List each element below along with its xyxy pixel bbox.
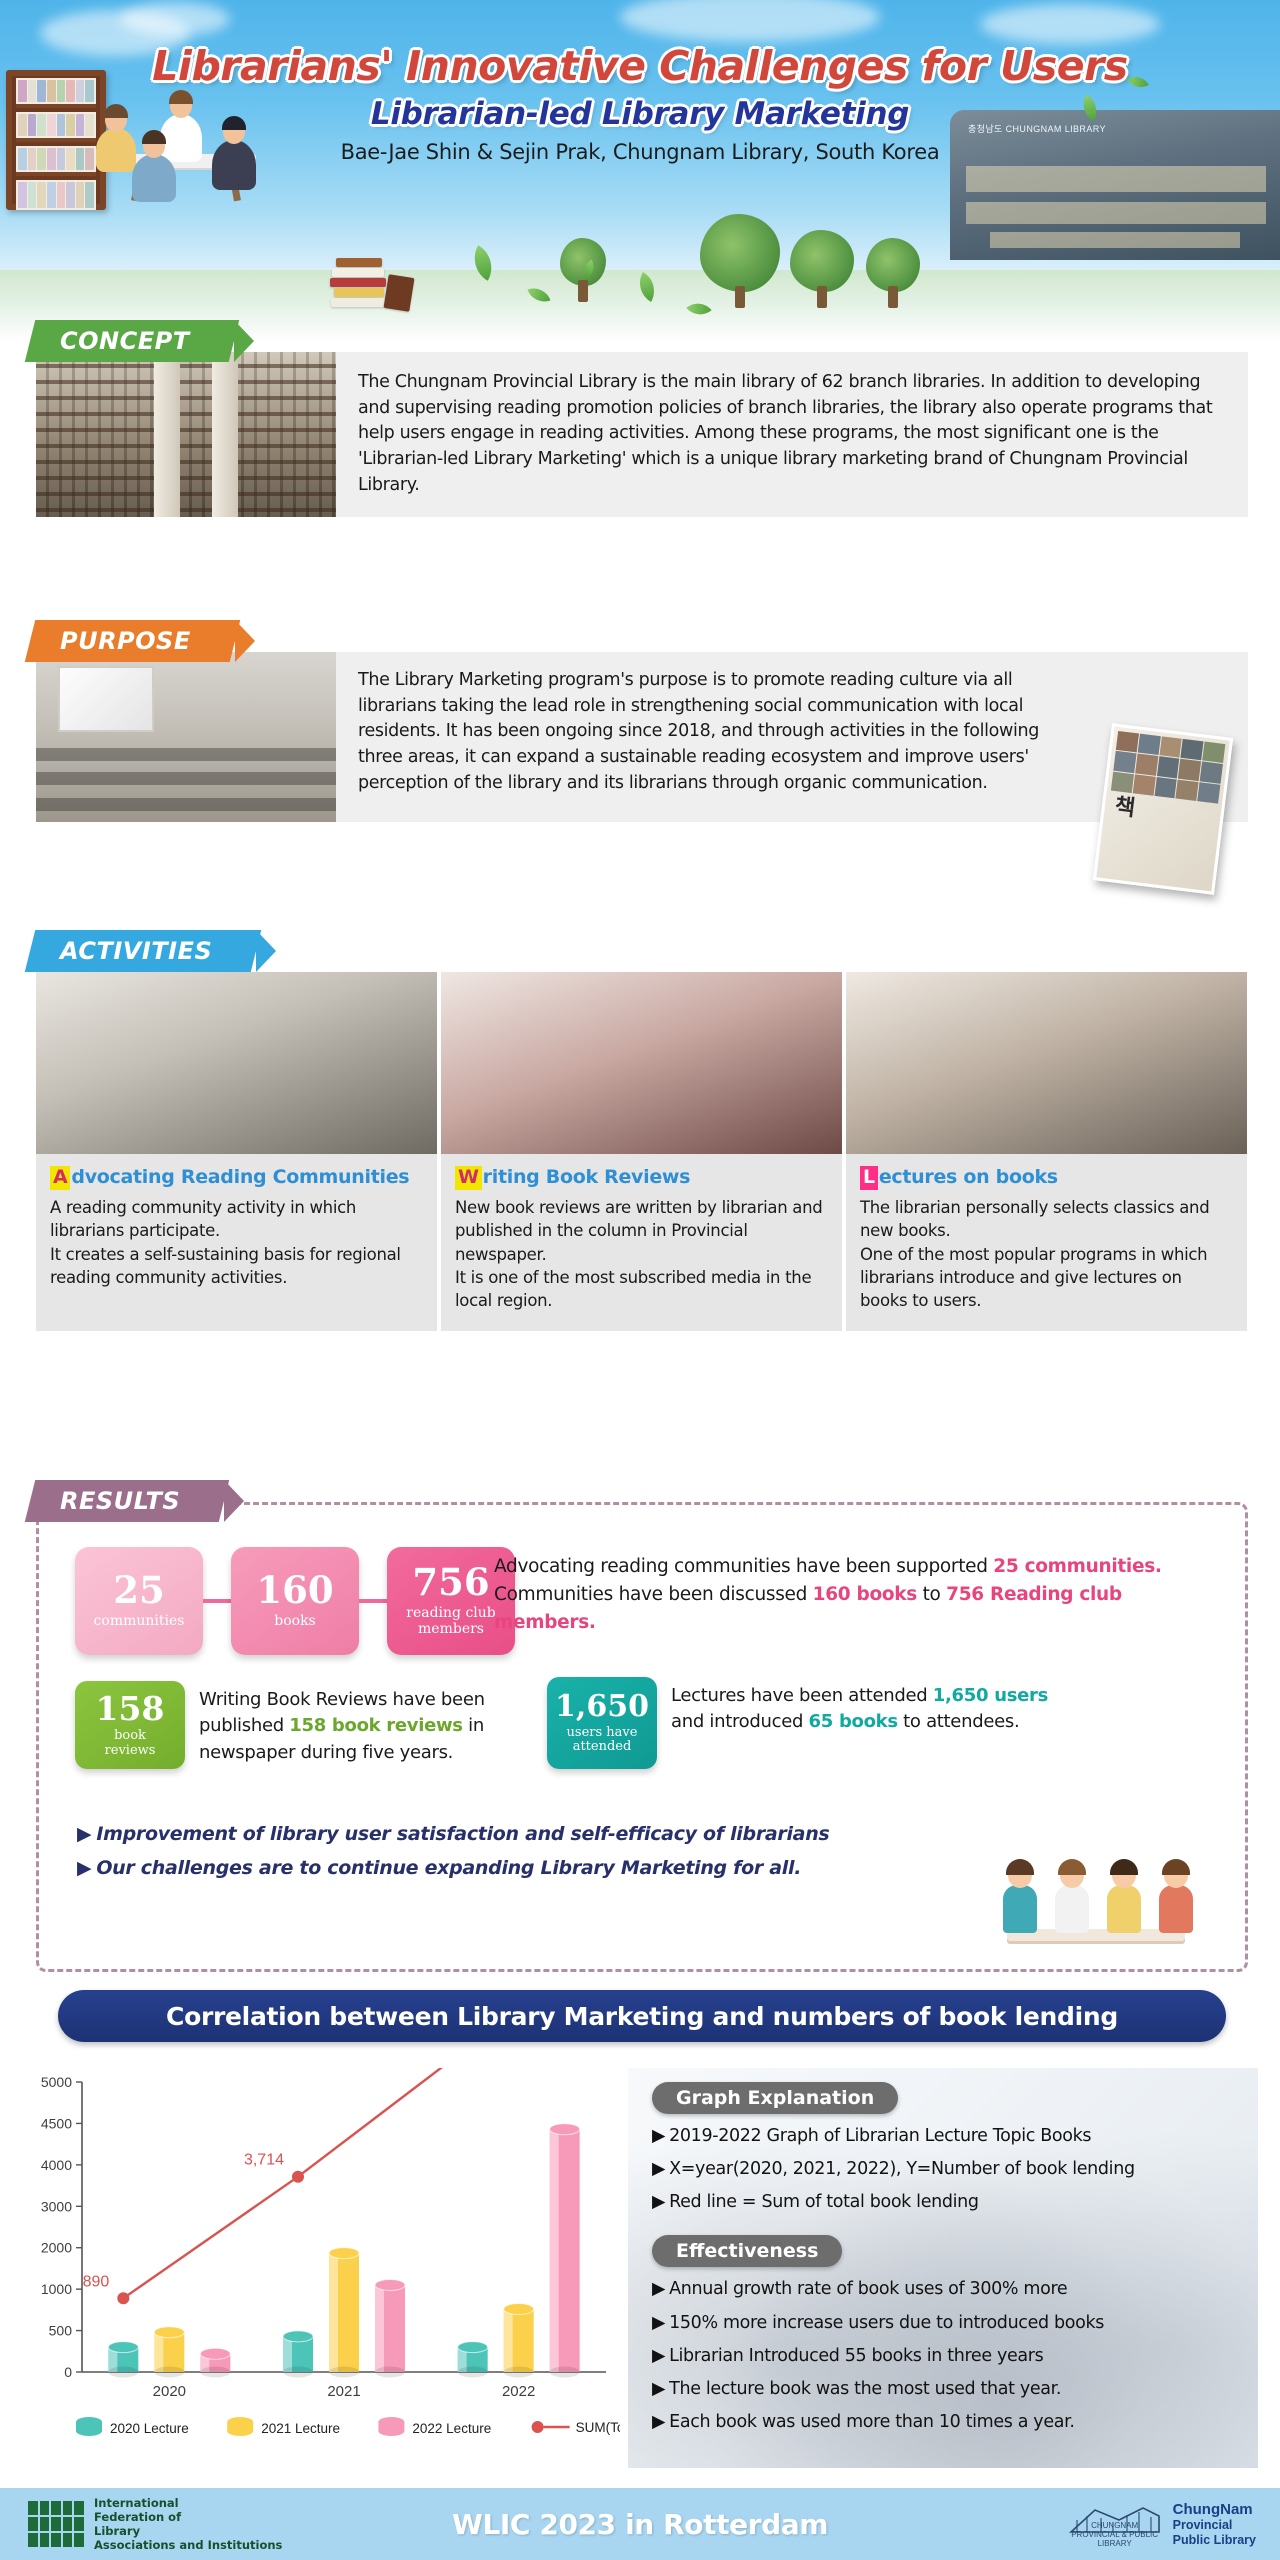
activity-card: Advocating Reading Communities A reading… <box>36 972 437 1331</box>
tree-decor <box>700 214 780 292</box>
authors-line: Bae-Jae Shin & Sejin Prak, Chungnam Libr… <box>180 140 1100 164</box>
svg-text:2022 Lecture: 2022 Lecture <box>412 2421 491 2436</box>
stat-label: reading club members <box>406 1606 496 1637</box>
svg-text:2021: 2021 <box>327 2383 360 2400</box>
triangle-right-icon: ▶ <box>652 2192 665 2212</box>
triangle-right-icon: ▶ <box>77 1857 91 1879</box>
activity-initial-letter: A <box>50 1166 70 1190</box>
svg-text:500: 500 <box>49 2323 73 2339</box>
connector-line <box>203 1599 231 1603</box>
svg-text:2021 Lecture: 2021 Lecture <box>261 2421 340 2436</box>
graph-explanation-item: ▶X=year(2020, 2021, 2022), Y=Number of b… <box>652 2157 1258 2181</box>
stat-label: books <box>274 1614 316 1630</box>
concept-body: The Chungnam Provincial Library is the m… <box>36 352 1248 517</box>
effectiveness-item: ▶The lecture book was the most used that… <box>652 2377 1258 2401</box>
lending-chart: 05001000200030004000450050008903,7145,65… <box>20 2068 620 2468</box>
rtc-hl1: 1,650 users <box>933 1685 1048 1706</box>
stat-value: 756 <box>412 1564 489 1601</box>
connector-line <box>359 1599 387 1603</box>
triangle-right-icon: ▶ <box>652 2346 665 2366</box>
rt-b-mid: to <box>917 1584 946 1605</box>
tree-decor <box>790 230 854 292</box>
rtb-hl: 158 book reviews <box>289 1715 462 1736</box>
item-text: 2019-2022 Graph of Librarian Lecture Top… <box>669 2126 1091 2146</box>
item-text: Each book was used more than 10 times a … <box>669 2412 1074 2432</box>
page-title: Librarians' Innovative Challenges for Us… <box>0 42 1280 90</box>
activity-photo-reading-community <box>36 972 437 1154</box>
chungnam-name: ChungNam Provincial Public Library <box>1173 2501 1256 2547</box>
poster-header: 충청남도 CHUNGNAM LIBRARY <box>0 0 1280 340</box>
stat-label: users have attended <box>567 1726 638 1755</box>
results-bullet: ▶Improvement of library user satisfactio… <box>77 1823 829 1845</box>
purpose-tag: PURPOSE <box>30 620 235 662</box>
purpose-body: The Library Marketing program's purpose … <box>36 652 1248 822</box>
svg-text:4000: 4000 <box>41 2157 72 2173</box>
activity-description: A reading community activity in which li… <box>50 1196 423 1290</box>
graph-explanation-block: Graph Explanation ▶2019-2022 Graph of Li… <box>628 2068 1258 2214</box>
activities-tag-label: ACTIVITIES <box>60 930 212 972</box>
item-text: The lecture book was the most used that … <box>669 2379 1061 2399</box>
activity-card: Lectures on books The librarian personal… <box>846 972 1247 1331</box>
svg-text:SUM(Total): SUM(Total) <box>576 2420 620 2435</box>
activity-description: The librarian personally selects classic… <box>860 1196 1233 1313</box>
results-bullet: ▶Our challenges are to continue expandin… <box>77 1857 829 1879</box>
activity-photo-lectures <box>846 972 1247 1154</box>
triangle-right-icon: ▶ <box>77 1823 91 1845</box>
stat-card-book-reviews: 158 book reviews <box>75 1681 185 1769</box>
effectiveness-item: ▶150% more increase users due to introdu… <box>652 2311 1258 2335</box>
rtc-post: to attendees. <box>898 1711 1020 1732</box>
triangle-right-icon: ▶ <box>652 2412 665 2432</box>
svg-text:4500: 4500 <box>41 2115 72 2131</box>
results-stat-row: 25 communities 160 books 756 reading clu… <box>75 1547 515 1655</box>
rt-b-pre: Communities have been discussed <box>494 1584 813 1605</box>
chungnam-building-icon: CHUNGNAM PROVINCIAL & PUBLIC LIBRARY <box>1067 2502 1163 2546</box>
svg-text:1000: 1000 <box>41 2281 72 2297</box>
svg-text:2020: 2020 <box>153 2383 186 2400</box>
stat-card-users-attended: 1,650 users have attended <box>547 1677 657 1769</box>
activity-heading: ectures on books <box>879 1166 1058 1188</box>
poster-root: 충청남도 CHUNGNAM LIBRARY <box>0 0 1280 2560</box>
rt-a-pre: Advocating reading communities have been… <box>494 1556 993 1577</box>
effectiveness-item: ▶Librarian Introduced 55 books in three … <box>652 2344 1258 2368</box>
lecture-room-photo <box>36 652 336 822</box>
item-text: 150% more increase users due to introduc… <box>669 2313 1104 2333</box>
chungnam-logo-block: CHUNGNAM PROVINCIAL & PUBLIC LIBRARY Chu… <box>1067 2501 1256 2547</box>
item-text: Librarian Introduced 55 books in three y… <box>669 2346 1043 2366</box>
effectiveness-block: Effectiveness ▶Annual growth rate of boo… <box>628 2223 1258 2434</box>
book-stack-decor <box>330 250 420 310</box>
stat-label: communities <box>94 1614 185 1630</box>
activity-initial-letter: W <box>455 1166 482 1190</box>
poster-footer: International Federation of Library Asso… <box>0 2488 1280 2560</box>
chungnam-line3: Public Library <box>1173 2533 1256 2547</box>
triangle-right-icon: ▶ <box>652 2126 665 2146</box>
activity-photo-book-reviews <box>441 972 842 1154</box>
effectiveness-title: Effectiveness <box>652 2235 842 2267</box>
results-bullet-text: Our challenges are to continue expanding… <box>96 1857 801 1879</box>
purpose-tag-label: PURPOSE <box>60 620 191 662</box>
item-text: Red line = Sum of total book lending <box>669 2192 979 2212</box>
correlation-title-bar: Correlation between Library Marketing an… <box>58 1990 1226 2042</box>
svg-text:3000: 3000 <box>41 2198 72 2214</box>
correlation-title: Correlation between Library Marketing an… <box>166 2002 1118 2031</box>
graph-explanation-title: Graph Explanation <box>652 2082 898 2114</box>
rt-a-hl: 25 communities. <box>993 1556 1161 1577</box>
svg-text:2022: 2022 <box>502 2383 535 2400</box>
triangle-right-icon: ▶ <box>652 2379 665 2399</box>
chungnam-caption: CHUNGNAM PROVINCIAL & PUBLIC LIBRARY <box>1067 2521 1163 2548</box>
graph-explanation-item: ▶Red line = Sum of total book lending <box>652 2190 1258 2214</box>
results-panel: 25 communities 160 books 756 reading clu… <box>36 1502 1248 1972</box>
chungnam-line2: Provincial <box>1173 2518 1256 2532</box>
library-building-photo: 충청남도 CHUNGNAM LIBRARY <box>950 110 1280 260</box>
page-subtitle: Librarian-led Library Marketing <box>0 96 1280 132</box>
graph-explanation-list: ▶2019-2022 Graph of Librarian Lecture To… <box>652 2124 1258 2214</box>
results-text-communities: Advocating reading communities have been… <box>494 1553 1194 1637</box>
results-tag-label: RESULTS <box>60 1480 180 1522</box>
results-text-lectures: Lectures have been attended 1,650 users … <box>671 1683 1071 1736</box>
triangle-right-icon: ▶ <box>652 2279 665 2299</box>
library-stacks-photo <box>36 352 336 517</box>
rt-b-hl1: 160 books <box>813 1584 917 1605</box>
tree-decor <box>866 238 920 292</box>
tree-decor <box>560 238 606 286</box>
stat-value: 25 <box>113 1572 165 1609</box>
rtc-mid: and introduced <box>671 1711 809 1732</box>
svg-text:5000: 5000 <box>41 2074 72 2090</box>
svg-text:890: 890 <box>83 2273 110 2290</box>
activity-card: Writing Book Reviews New book reviews ar… <box>441 972 842 1331</box>
triangle-right-icon: ▶ <box>652 2159 665 2179</box>
activities-tag: ACTIVITIES <box>30 930 256 972</box>
stat-value: 1,650 <box>555 1692 649 1722</box>
cloud-decor <box>120 2 230 36</box>
chungnam-line1: ChungNam <box>1173 2501 1256 2518</box>
chart-svg: 05001000200030004000450050008903,7145,65… <box>20 2068 620 2468</box>
effectiveness-list: ▶Annual growth rate of book uses of 300%… <box>652 2277 1258 2434</box>
concept-tag: CONCEPT <box>30 320 234 362</box>
stat-card-books: 160 books <box>231 1547 359 1655</box>
item-text: X=year(2020, 2021, 2022), Y=Number of bo… <box>669 2159 1135 2179</box>
book-club-illustration <box>981 1849 1211 1959</box>
effectiveness-item: ▶Annual growth rate of book uses of 300%… <box>652 2277 1258 2301</box>
rtc-pre: Lectures have been attended <box>671 1685 933 1706</box>
results-bullets: ▶Improvement of library user satisfactio… <box>77 1823 829 1891</box>
activity-initial-letter: L <box>860 1166 878 1190</box>
program-poster-thumbnail: 책 <box>1093 723 1233 895</box>
item-text: Annual growth rate of book uses of 300% … <box>669 2279 1067 2299</box>
activity-heading: riting Book Reviews <box>483 1166 691 1188</box>
svg-text:2000: 2000 <box>41 2240 72 2256</box>
poster-thumb-title: 책 <box>1114 795 1137 819</box>
concept-text: The Chungnam Provincial Library is the m… <box>336 352 1248 517</box>
stat-value: 158 <box>96 1692 165 1725</box>
svg-text:0: 0 <box>64 2364 72 2380</box>
svg-text:3,714: 3,714 <box>244 2152 284 2169</box>
results-text-book-reviews: Writing Book Reviews have been published… <box>199 1687 529 1766</box>
rtc-hl2: 65 books <box>809 1711 898 1732</box>
stat-value: 160 <box>256 1572 333 1609</box>
concept-tag-label: CONCEPT <box>60 320 190 362</box>
info-panel: Graph Explanation ▶2019-2022 Graph of Li… <box>628 2068 1258 2468</box>
triangle-right-icon: ▶ <box>652 2313 665 2333</box>
cloud-decor <box>980 4 1160 44</box>
activity-heading: dvocating Reading Communities <box>71 1166 409 1188</box>
graph-explanation-item: ▶2019-2022 Graph of Librarian Lecture To… <box>652 2124 1258 2148</box>
results-tag: RESULTS <box>30 1480 224 1522</box>
stat-label: book reviews <box>105 1729 156 1758</box>
activities-grid: Advocating Reading Communities A reading… <box>36 972 1248 1331</box>
activity-description: New book reviews are written by libraria… <box>455 1196 828 1313</box>
cloud-decor <box>620 0 880 42</box>
svg-text:2020 Lecture: 2020 Lecture <box>110 2421 189 2436</box>
chart-zone: 05001000200030004000450050008903,7145,65… <box>0 2060 1280 2490</box>
stat-card-communities: 25 communities <box>75 1547 203 1655</box>
effectiveness-item: ▶Each book was used more than 10 times a… <box>652 2410 1258 2434</box>
results-bullet-text: Improvement of library user satisfaction… <box>96 1823 829 1845</box>
